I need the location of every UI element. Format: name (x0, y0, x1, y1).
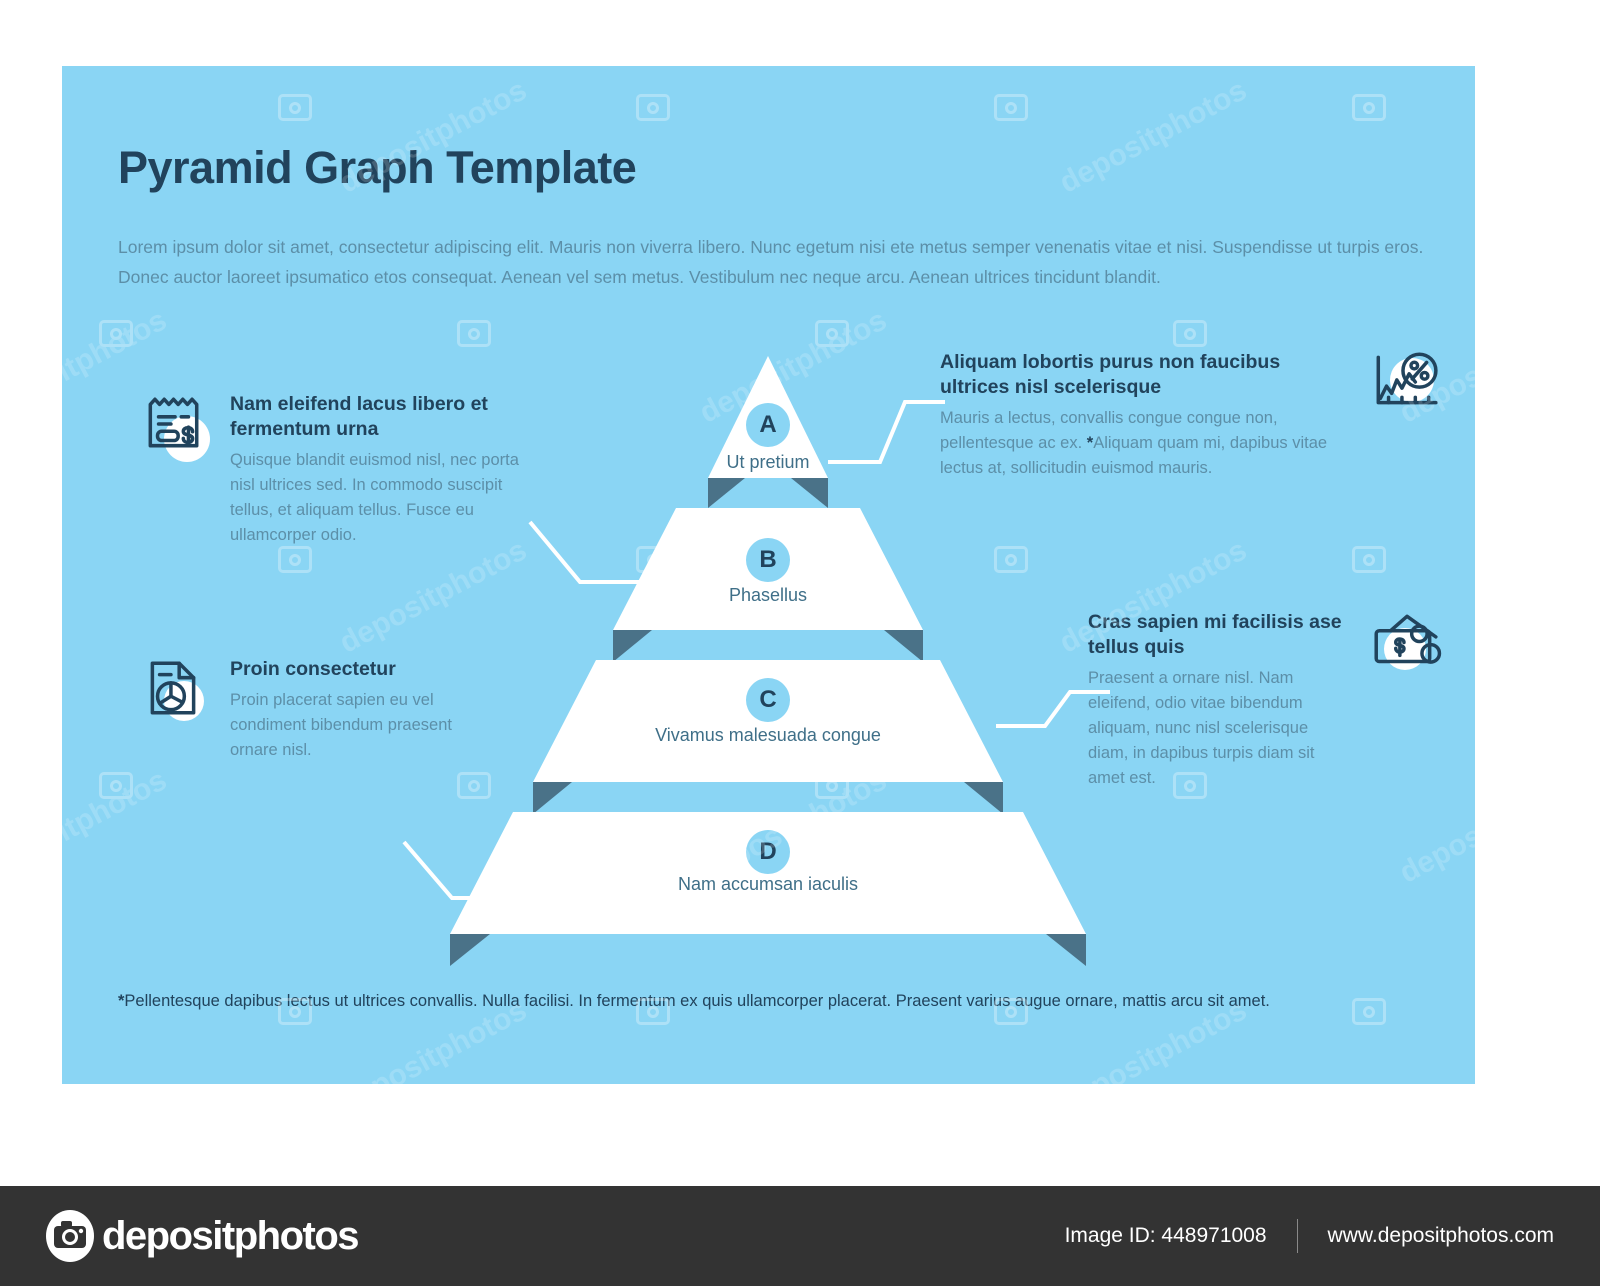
money-tag-dollar-icon (1368, 608, 1440, 680)
feature-d-heading: Cras sapien mi facilisis ase tellus quis (1088, 610, 1350, 660)
pyramid-badge-c[interactable]: C (746, 678, 790, 722)
feature-b-text: Proin placerat sapien eu vel condiment b… (230, 688, 470, 763)
pyramid-label-b: Phasellus (729, 585, 807, 606)
pyramid-label-a: Ut pretium (726, 452, 809, 473)
camera-icon (44, 1208, 96, 1264)
receipt-dollar-icon (140, 390, 212, 462)
feature-d-text: Praesent a ornare nisl. Nam eleifend, od… (1088, 666, 1350, 791)
page-title: Pyramid Graph Template (118, 142, 636, 194)
feature-block-a[interactable]: Nam eleifend lacus libero et fermentum u… (140, 390, 530, 548)
website-url[interactable]: www.depositphotos.com (1328, 1224, 1554, 1248)
infographic-stage: Pyramid Graph Template Lorem ipsum dolor… (0, 0, 1600, 1180)
pyramid-label-d: Nam accumsan iaculis (678, 874, 858, 895)
depositphotos-wordmark: depositphotos (102, 1214, 358, 1259)
pyramid-badge-d[interactable]: D (746, 830, 790, 874)
feature-c-text: Mauris a lectus, convallis congue congue… (940, 406, 1350, 481)
chart-percent-icon (1368, 348, 1440, 420)
pyramid-badge-a[interactable]: A (746, 403, 790, 447)
page-subtitle: Lorem ipsum dolor sit amet, consectetur … (118, 232, 1438, 292)
footnote: *Pellentesque dapibus lectus ut ultrices… (118, 988, 1418, 1014)
feature-block-b[interactable]: Proin consectetur Proin placerat sapien … (140, 655, 470, 763)
footer-meta: Image ID: 448971008 www.depositphotos.co… (1065, 1219, 1554, 1253)
feature-a-heading: Nam eleifend lacus libero et fermentum u… (230, 392, 530, 442)
footnote-text: Pellentesque dapibus lectus ut ultrices … (124, 992, 1269, 1010)
document-piechart-icon (140, 655, 212, 727)
depositphotos-footer-bar: depositphotos Image ID: 448971008 www.de… (0, 1186, 1600, 1286)
pyramid-label-c: Vivamus malesuada congue (655, 725, 881, 746)
feature-c-heading: Aliquam lobortis purus non faucibus ultr… (940, 350, 1350, 400)
depositphotos-logo[interactable]: depositphotos (44, 1208, 358, 1264)
footer-divider (1297, 1219, 1298, 1253)
feature-block-d[interactable]: Cras sapien mi facilisis ase tellus quis… (1088, 608, 1440, 791)
feature-b-heading: Proin consectetur (230, 657, 470, 682)
feature-block-c[interactable]: Aliquam lobortis purus non faucibus ultr… (940, 348, 1440, 481)
image-id: Image ID: 448971008 (1065, 1224, 1267, 1248)
feature-a-text: Quisque blandit euismod nisl, nec porta … (230, 448, 530, 548)
pyramid-badge-b[interactable]: B (746, 538, 790, 582)
